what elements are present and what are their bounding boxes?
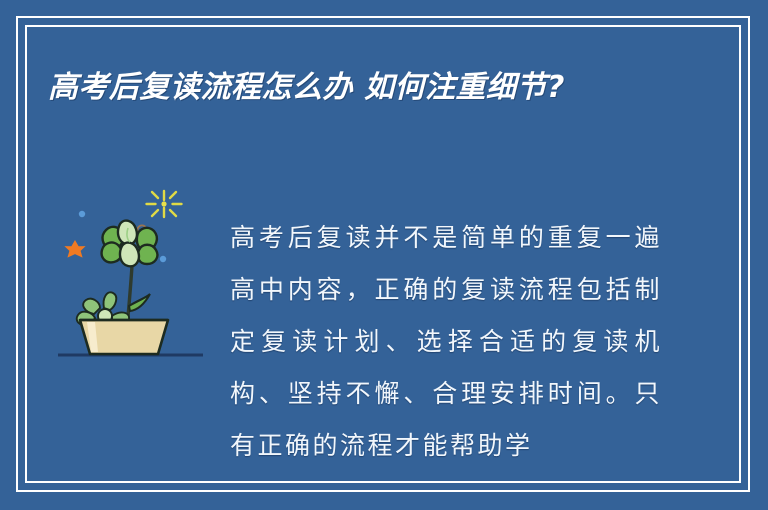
poster-canvas: 高考后复读流程怎么办 如何注重细节? 高考后复读并不是简单的重复一遍高中内容，正… [0, 0, 768, 510]
dot-blue-icon [160, 256, 166, 262]
page-title: 高考后复读流程怎么办 如何注重细节? [48, 66, 708, 110]
body-paragraph: 高考后复读并不是简单的重复一遍高中内容，正确的复读流程包括制定复读计划、选择合适… [230, 212, 662, 472]
potted-plant-illustration [50, 188, 220, 368]
star-orange-icon [64, 240, 85, 258]
flower-pot [80, 320, 168, 354]
plant-top-cluster [102, 221, 158, 267]
dot-blue-icon [79, 211, 85, 217]
stem-side-leaf [129, 294, 150, 311]
sparkle-yellow-icon [147, 191, 182, 217]
